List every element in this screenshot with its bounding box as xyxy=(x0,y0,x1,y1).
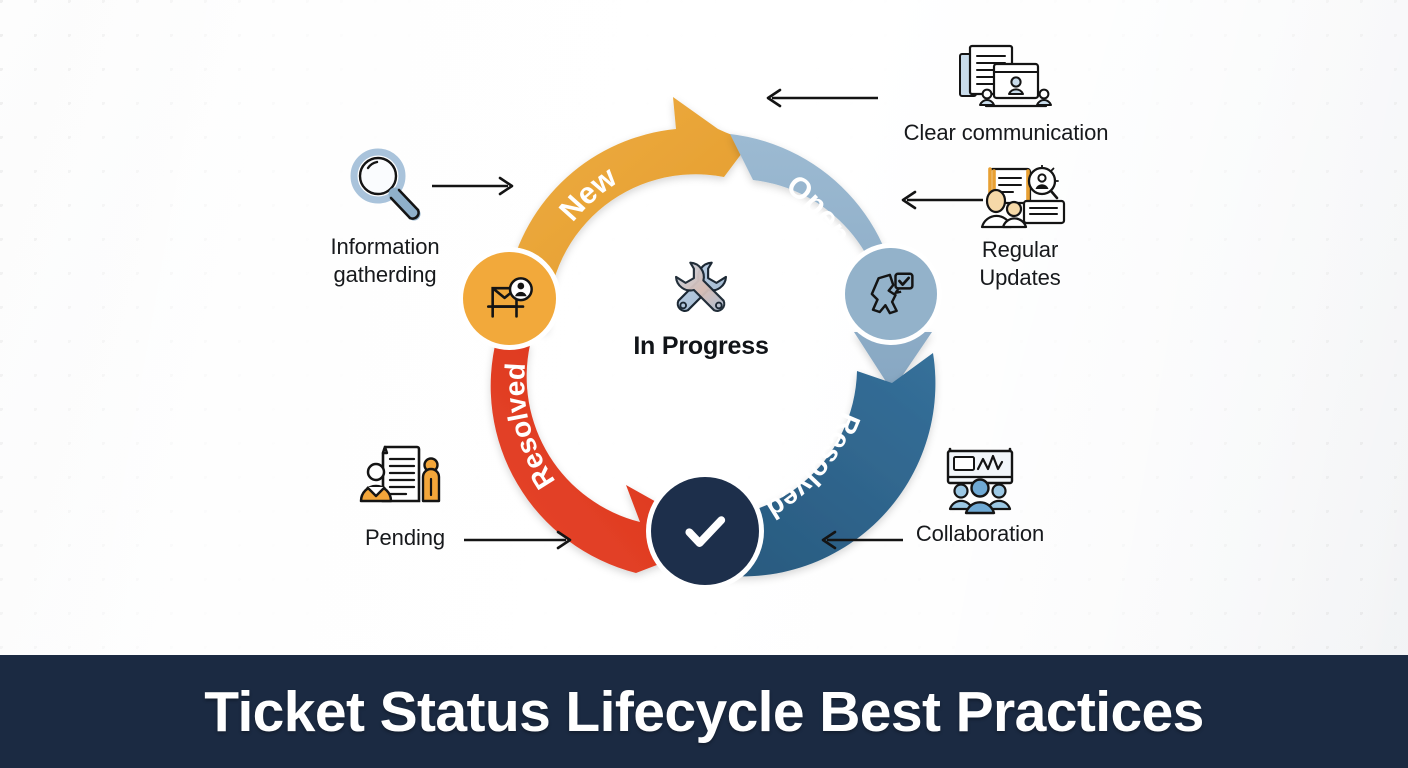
team-whiteboard-icon xyxy=(940,443,1020,515)
resolved-node[interactable] xyxy=(651,477,759,585)
people-review-icon xyxy=(972,165,1068,231)
annotation-clear-communication: Clear communication xyxy=(846,42,1166,147)
arrow-clear-communication xyxy=(760,78,880,118)
magnifier-icon xyxy=(342,142,428,228)
arrow-regular-updates xyxy=(895,182,985,218)
ticket-person-icon xyxy=(484,273,536,325)
document-people-icon xyxy=(359,441,451,519)
arrow-pending xyxy=(462,522,578,558)
diagram-stage: New Open Resolved Resolved xyxy=(0,0,1408,655)
annotation-label: Pending xyxy=(365,524,445,552)
annotation-label: Collaboration xyxy=(916,520,1044,548)
annotation-label: Information gatherding xyxy=(331,233,440,289)
annotation-label: Clear communication xyxy=(904,119,1109,147)
check-icon xyxy=(676,502,734,560)
center-status-label: In Progress xyxy=(633,332,768,361)
annotation-label: Regular Updates xyxy=(979,236,1060,292)
title-banner: Ticket Status Lifecycle Best Practices xyxy=(0,655,1408,768)
open-node[interactable] xyxy=(845,248,937,340)
person-check-bubble-icon xyxy=(864,267,918,321)
arrow-information-gathering xyxy=(430,168,520,204)
annotation-information-gathering: Information gatherding xyxy=(300,142,470,289)
annotation-pending: Pending xyxy=(345,441,465,552)
documents-presentation-icon xyxy=(956,42,1056,114)
center-status: In Progress xyxy=(597,252,805,382)
new-node[interactable] xyxy=(463,252,556,345)
annotation-collaboration: Collaboration xyxy=(890,443,1070,548)
segment-label-resolved-left: Resolved xyxy=(499,362,561,495)
page-title: Ticket Status Lifecycle Best Practices xyxy=(204,679,1204,745)
arrow-collaboration xyxy=(815,522,905,558)
crossed-wrenches-icon xyxy=(663,252,739,328)
